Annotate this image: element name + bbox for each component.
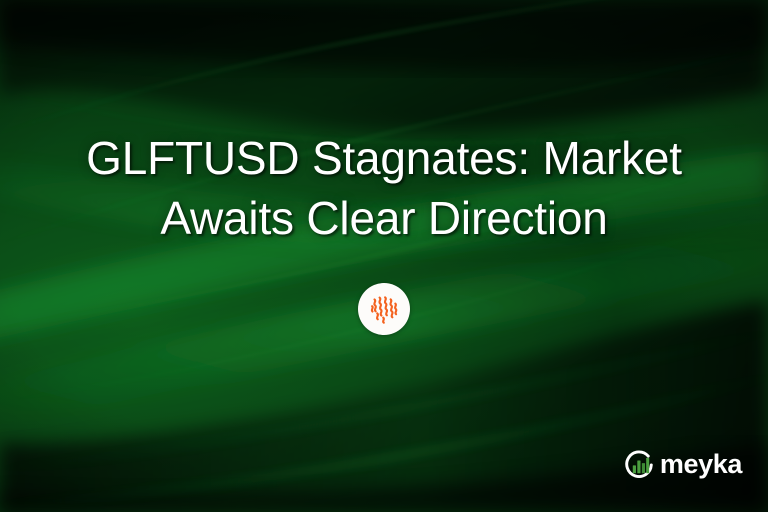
center-badge <box>358 283 410 335</box>
background-wave-pattern <box>0 0 768 512</box>
background-vignette <box>0 0 768 512</box>
social-card: GLFTUSD Stagnates: Market Awaits Clear D… <box>0 0 768 512</box>
brand-lockup: meyka <box>622 448 742 482</box>
card-headline: GLFTUSD Stagnates: Market Awaits Clear D… <box>0 128 768 248</box>
background-gradient <box>0 0 768 512</box>
orange-wave-lines-icon <box>366 291 402 327</box>
brand-wordmark: meyka <box>660 451 742 480</box>
circular-bar-chart-icon <box>622 448 656 482</box>
